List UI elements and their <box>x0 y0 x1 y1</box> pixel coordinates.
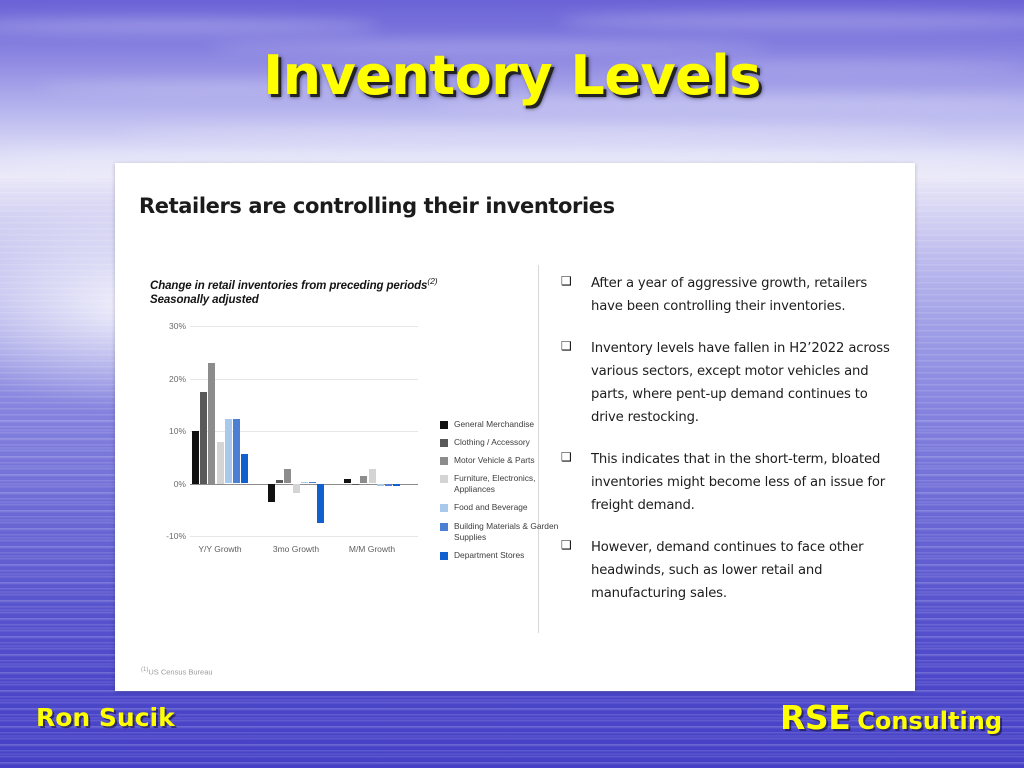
bullet-square-icon: ❑ <box>561 338 591 429</box>
slide-canvas: Inventory Levels Retailers are controlli… <box>0 0 1024 768</box>
chart-bar <box>385 484 392 486</box>
chart-bar <box>393 484 400 486</box>
bullet-text: After a year of aggressive growth, retai… <box>591 273 896 318</box>
chart-bar <box>217 442 224 484</box>
chart-legend: General MerchandiseClothing / AccessoryM… <box>440 419 560 568</box>
chart-bar <box>233 419 240 484</box>
legend-item[interactable]: Department Stores <box>440 550 560 561</box>
legend-label: Department Stores <box>454 550 524 561</box>
chart-bar <box>344 479 351 484</box>
cloud-streak <box>120 126 940 138</box>
chart-bar <box>293 484 300 493</box>
chart-bar <box>377 484 384 487</box>
bullet-item: ❑This indicates that in the short-term, … <box>561 449 896 517</box>
legend-item[interactable]: Motor Vehicle & Parts <box>440 455 560 466</box>
bullet-item: ❑After a year of aggressive growth, reta… <box>561 273 896 318</box>
bullet-square-icon: ❑ <box>561 537 591 605</box>
x-axis-tick-label: M/M Growth <box>349 544 395 554</box>
chart-bar <box>225 419 232 484</box>
bullet-text: However, demand continues to face other … <box>591 537 896 605</box>
legend-item[interactable]: Building Materials & Garden Supplies <box>440 521 560 543</box>
y-axis-tick-label: -10% <box>152 531 186 541</box>
legend-label: Clothing / Accessory <box>454 437 530 448</box>
brand-name: RSE <box>780 698 850 737</box>
legend-swatch-icon <box>440 475 448 483</box>
axis-zero-line <box>190 484 418 485</box>
y-axis-tick-label: 10% <box>152 426 186 436</box>
legend-item[interactable]: General Merchandise <box>440 419 560 430</box>
chart-gridline <box>190 326 418 327</box>
chart-bar <box>200 392 207 484</box>
chart-bar <box>284 469 291 484</box>
chart-title: Change in retail inventories from preced… <box>150 276 530 294</box>
bullet-square-icon: ❑ <box>561 273 591 318</box>
legend-swatch-icon <box>440 421 448 429</box>
legend-item[interactable]: Clothing / Accessory <box>440 437 560 448</box>
chart-bar <box>309 482 316 484</box>
legend-swatch-icon <box>440 439 448 447</box>
chart-plot-area: 30%20%10%0%-10%Y/Y Growth3mo GrowthM/M G… <box>190 326 418 536</box>
legend-swatch-icon <box>440 523 448 531</box>
card-heading: Retailers are controlling their inventor… <box>139 194 615 218</box>
legend-label: Motor Vehicle & Parts <box>454 455 535 466</box>
chart-bar <box>241 454 248 484</box>
chart-bar <box>352 484 359 486</box>
legend-swatch-icon <box>440 457 448 465</box>
chart-bar <box>317 484 324 523</box>
legend-item[interactable]: Furniture, Electronics, Appliances <box>440 473 560 495</box>
chart-subtitle: Seasonally adjusted <box>150 294 530 306</box>
chart-footnote: (1)US Census Bureau <box>141 667 213 677</box>
chart-bar <box>276 480 283 483</box>
chart-bar <box>360 476 367 483</box>
chart-gridline <box>190 536 418 537</box>
chart-title-superscript: (2) <box>427 276 437 286</box>
brand-tagline: Consulting <box>857 707 1002 735</box>
x-axis-tick-label: Y/Y Growth <box>198 544 241 554</box>
chart-bar <box>369 469 376 484</box>
chart-gridline <box>190 379 418 380</box>
x-axis-tick-label: 3mo Growth <box>273 544 319 554</box>
bullet-text: Inventory levels have fallen in H2’2022 … <box>591 338 896 429</box>
legend-label: Food and Beverage <box>454 502 528 513</box>
brand-logo: RSEConsulting <box>780 698 1002 737</box>
bullet-square-icon: ❑ <box>561 449 591 517</box>
legend-swatch-icon <box>440 552 448 560</box>
footnote-text: US Census Bureau <box>148 667 212 676</box>
bullet-item: ❑Inventory levels have fallen in H2’2022… <box>561 338 896 429</box>
y-axis-tick-label: 20% <box>152 374 186 384</box>
chart-bar <box>208 363 215 484</box>
bullet-text: This indicates that in the short-term, b… <box>591 449 896 517</box>
y-axis-tick-label: 0% <box>152 479 186 489</box>
y-axis-tick-label: 30% <box>152 321 186 331</box>
bullet-item: ❑However, demand continues to face other… <box>561 537 896 605</box>
chart-title-text: Change in retail inventories from preced… <box>150 280 427 292</box>
legend-label: Furniture, Electronics, Appliances <box>454 473 560 495</box>
content-card: Retailers are controlling their inventor… <box>115 163 915 691</box>
presenter-name: Ron Sucik <box>36 703 175 732</box>
slide-title: Inventory Levels <box>0 44 1024 107</box>
chart-bar <box>268 484 275 502</box>
legend-label: General Merchandise <box>454 419 534 430</box>
legend-label: Building Materials & Garden Supplies <box>454 521 560 543</box>
legend-swatch-icon <box>440 504 448 512</box>
chart-bar <box>192 431 199 484</box>
chart-block: Change in retail inventories from preced… <box>150 276 530 556</box>
legend-item[interactable]: Food and Beverage <box>440 502 560 513</box>
chart-bar <box>301 482 308 484</box>
bullet-list: ❑After a year of aggressive growth, reta… <box>561 273 896 625</box>
